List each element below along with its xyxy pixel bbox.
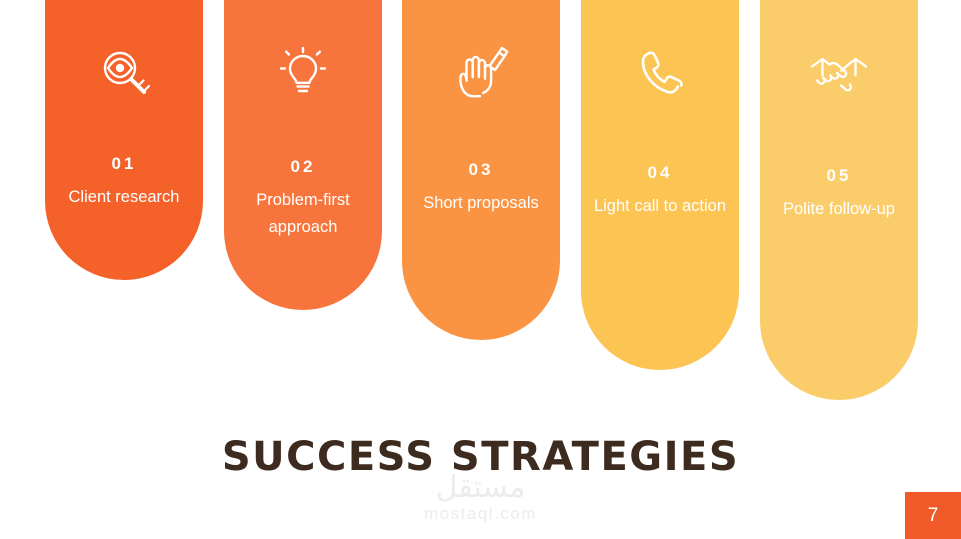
hand-pen-icon: [402, 42, 560, 104]
lightbulb-icon: [224, 42, 382, 104]
card-number: 05: [760, 166, 918, 186]
card-label: Polite follow-up: [766, 196, 912, 223]
phone-icon: [581, 42, 739, 104]
strategy-card: 03Short proposals: [402, 0, 560, 340]
watermark: مستقل mostaql.com: [0, 472, 961, 524]
card-number: 03: [402, 160, 560, 180]
card-label: Problem-first approach: [230, 187, 376, 241]
watermark-latin: mostaql.com: [0, 504, 961, 524]
slide-root: 01Client research02Problem-first approac…: [0, 0, 961, 539]
magnifier-eye-icon: [45, 42, 203, 104]
strategy-card: 02Problem-first approach: [224, 0, 382, 310]
watermark-arabic: مستقل: [0, 472, 961, 504]
strategy-card: 04Light call to action: [581, 0, 739, 370]
card-number: 04: [581, 163, 739, 183]
card-number: 02: [224, 157, 382, 177]
card-label: Light call to action: [587, 193, 733, 220]
strategy-cards-group: 01Client research02Problem-first approac…: [0, 0, 961, 410]
strategy-card: 05Polite follow-up: [760, 0, 918, 400]
card-number: 01: [45, 154, 203, 174]
card-label: Short proposals: [408, 190, 554, 217]
page-number-badge: 7: [905, 492, 961, 539]
handshake-icon: [760, 42, 918, 104]
card-label: Client research: [51, 184, 197, 211]
strategy-card: 01Client research: [45, 0, 203, 280]
